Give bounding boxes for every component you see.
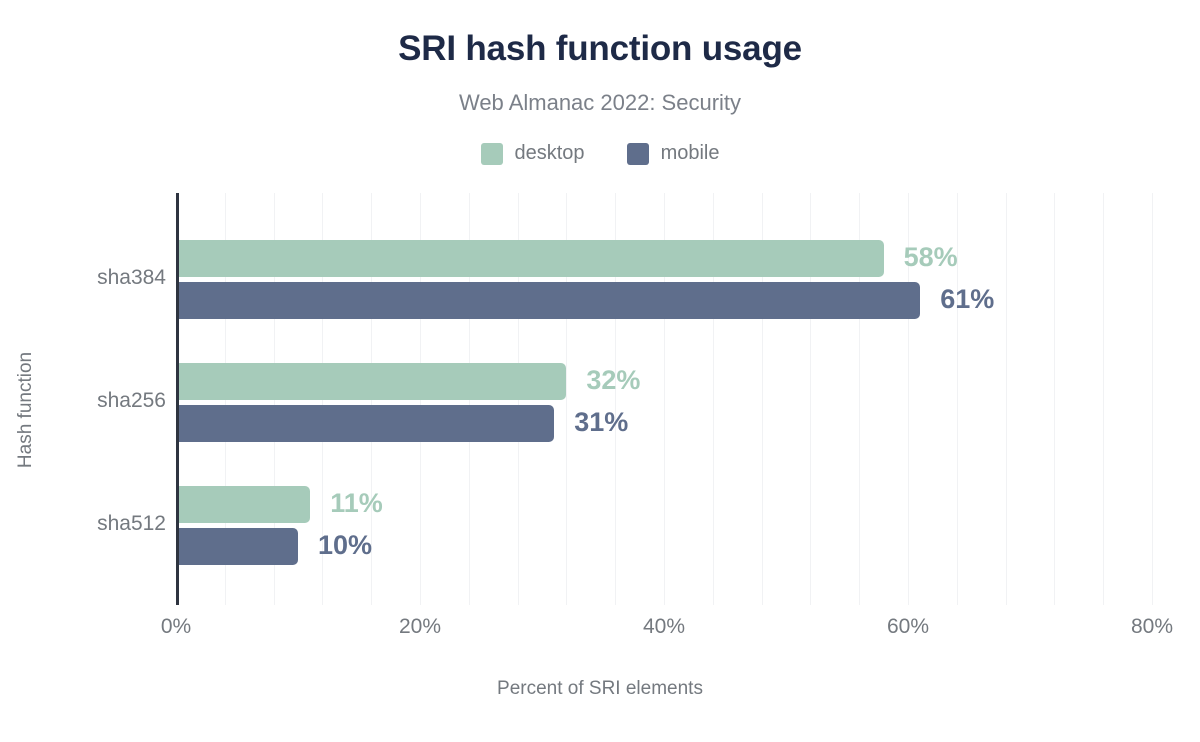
bar-sha512-desktop[interactable]	[176, 486, 310, 523]
bar-value-sha384-mobile: 61%	[940, 284, 994, 315]
chart-container: SRI hash function usage Web Almanac 2022…	[0, 0, 1200, 742]
legend-swatch-desktop	[481, 143, 503, 165]
bar-value-sha256-desktop: 32%	[586, 365, 640, 396]
x-axis-title: Percent of SRI elements	[0, 678, 1200, 700]
legend-label-mobile: mobile	[661, 142, 720, 165]
gridline	[1103, 193, 1104, 605]
bar-value-sha384-desktop: 58%	[904, 242, 958, 273]
bar-sha384-mobile[interactable]	[176, 282, 920, 319]
bar-value-sha512-desktop: 11%	[330, 488, 383, 519]
gridline	[1152, 193, 1153, 605]
bar-sha384-desktop[interactable]	[176, 240, 884, 277]
chart-legend: desktopmobile	[0, 142, 1200, 165]
bar-sha256-mobile[interactable]	[176, 405, 554, 442]
legend-label-desktop: desktop	[515, 142, 585, 165]
bar-sha512-mobile[interactable]	[176, 528, 298, 565]
legend-item-desktop[interactable]: desktop	[481, 142, 585, 165]
gridline	[1006, 193, 1007, 605]
gridline	[1054, 193, 1055, 605]
chart-subtitle: Web Almanac 2022: Security	[0, 90, 1200, 116]
bar-value-sha512-mobile: 10%	[318, 530, 372, 561]
bar-value-sha256-mobile: 31%	[574, 407, 628, 438]
legend-item-mobile[interactable]: mobile	[627, 142, 720, 165]
x-tick-label-0%: 0%	[161, 615, 191, 639]
x-tick-label-60%: 60%	[887, 615, 929, 639]
y-tick-label-sha384: sha384	[0, 266, 166, 290]
y-axis-line	[176, 193, 179, 605]
x-tick-label-80%: 80%	[1131, 615, 1173, 639]
chart-title: SRI hash function usage	[0, 30, 1200, 69]
y-tick-label-sha512: sha512	[0, 512, 166, 536]
bar-sha256-desktop[interactable]	[176, 363, 566, 400]
x-tick-label-20%: 20%	[399, 615, 441, 639]
x-tick-label-40%: 40%	[643, 615, 685, 639]
y-axis-title: Hash function	[15, 320, 37, 500]
legend-swatch-mobile	[627, 143, 649, 165]
